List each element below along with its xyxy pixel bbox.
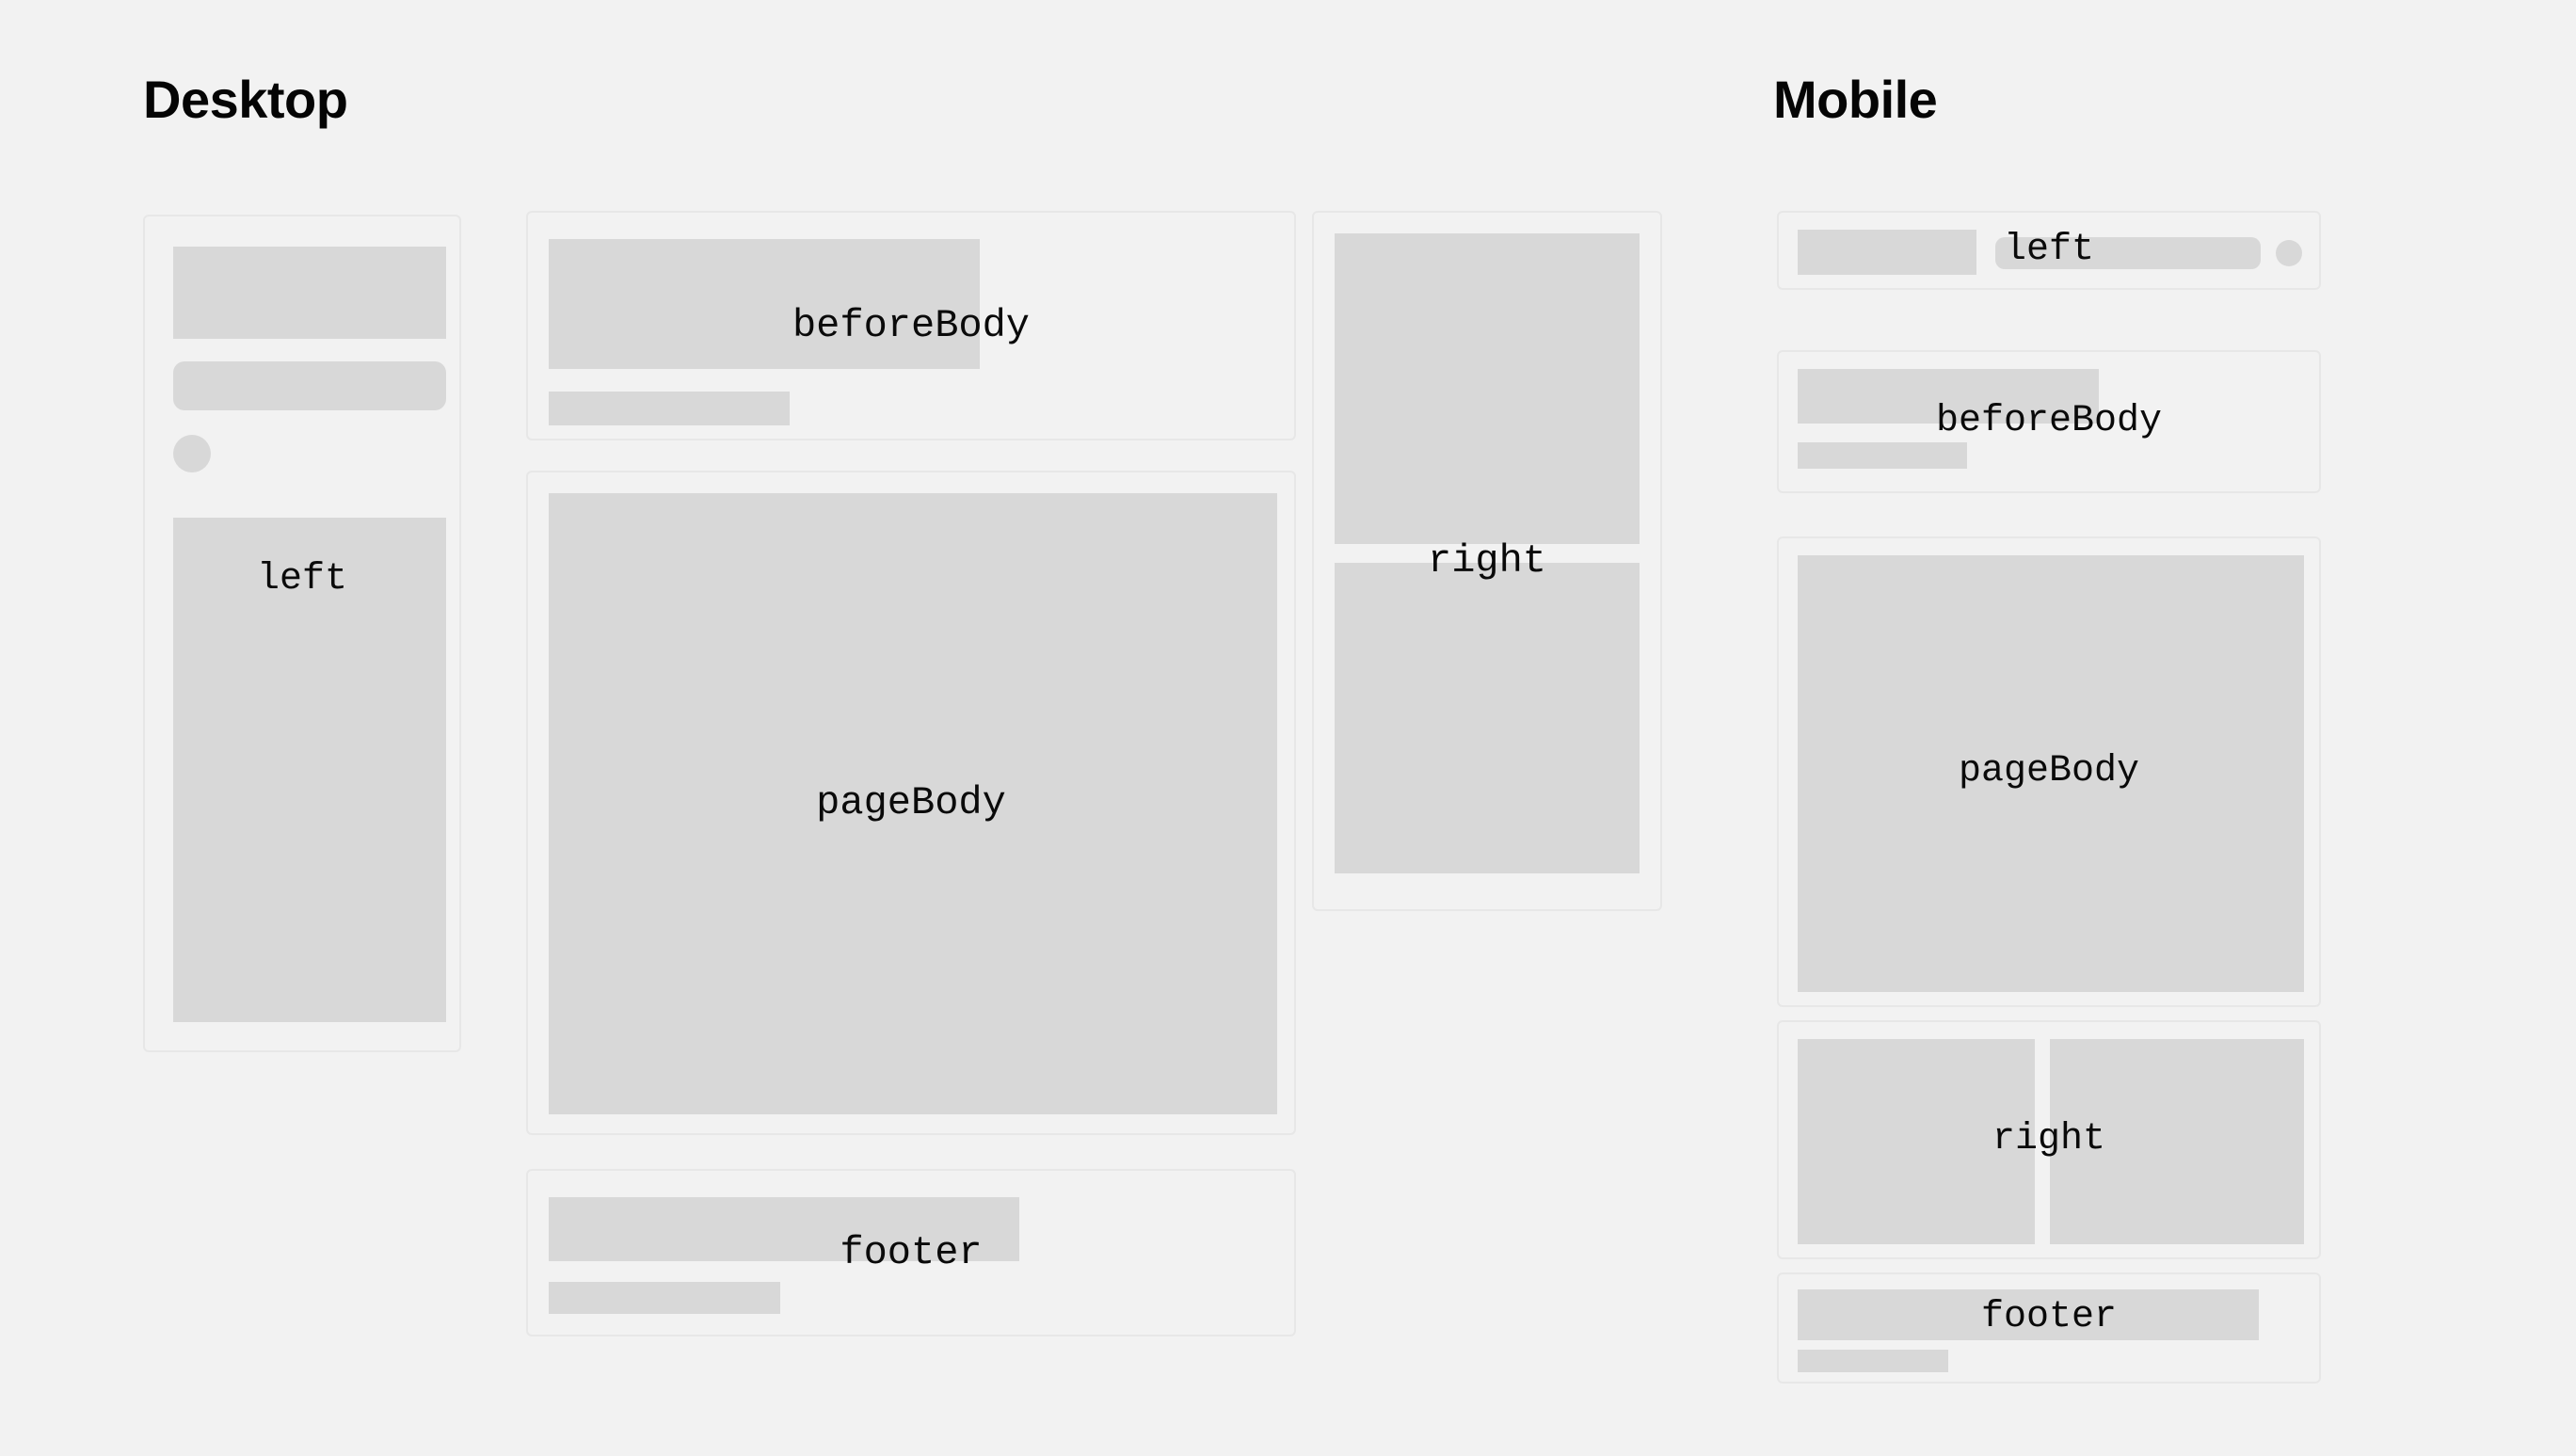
placeholder-bar	[549, 392, 790, 425]
mobile-left-slot-panel[interactable]	[1777, 211, 2321, 290]
placeholder-block	[549, 239, 980, 369]
placeholder-block	[1798, 1039, 2035, 1244]
placeholder-block-large	[549, 493, 1277, 1114]
desktop-pagebody-slot-panel[interactable]	[526, 471, 1296, 1135]
placeholder-block	[2050, 1039, 2304, 1244]
desktop-footer-slot-panel[interactable]	[526, 1169, 1296, 1336]
desktop-beforebody-slot-panel[interactable]	[526, 211, 1296, 440]
placeholder-block-large	[1798, 555, 2304, 992]
placeholder-bar	[1995, 237, 2261, 269]
mobile-pagebody-slot-panel[interactable]	[1777, 536, 2321, 1007]
desktop-right-slot-panel[interactable]	[1312, 211, 1662, 911]
mobile-section-heading: Mobile	[1773, 73, 1937, 126]
placeholder-block	[1335, 233, 1640, 544]
placeholder-bar	[1798, 442, 1967, 469]
mobile-footer-slot-panel[interactable]	[1777, 1272, 2321, 1384]
placeholder-block	[549, 1197, 1019, 1261]
placeholder-block	[1798, 230, 1976, 275]
placeholder-bar	[549, 1282, 780, 1314]
placeholder-block	[1335, 563, 1640, 873]
mobile-right-slot-panel[interactable]	[1777, 1020, 2321, 1259]
placeholder-circle-icon	[2276, 240, 2302, 266]
placeholder-circle-icon	[173, 435, 211, 472]
placeholder-bar	[1798, 1350, 1948, 1372]
desktop-left-slot-panel[interactable]	[143, 215, 461, 1052]
placeholder-block	[1798, 1289, 2259, 1340]
placeholder-block	[173, 247, 446, 339]
placeholder-block	[1798, 369, 2099, 424]
desktop-section-heading: Desktop	[143, 73, 347, 126]
placeholder-block-tall	[173, 518, 446, 1022]
placeholder-bar	[173, 361, 446, 410]
mobile-beforebody-slot-panel[interactable]	[1777, 350, 2321, 493]
